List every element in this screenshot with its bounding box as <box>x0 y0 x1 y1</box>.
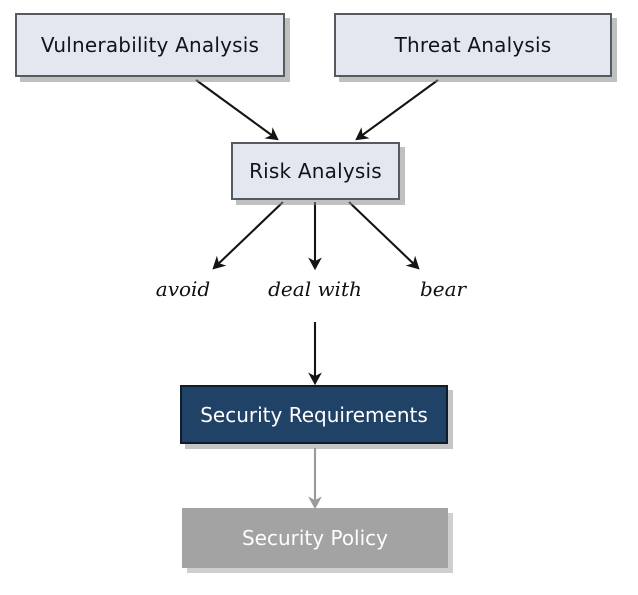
node-threat-analysis-label: Threat Analysis <box>395 34 552 56</box>
edge-risk-to-avoid <box>214 202 283 268</box>
annotation-deal-with: deal with <box>250 277 380 301</box>
annotation-bear: bear <box>382 277 504 301</box>
node-threat-analysis[interactable]: Threat Analysis <box>334 13 612 77</box>
edge-threat-to-risk <box>357 80 438 139</box>
node-vulnerability-analysis[interactable]: Vulnerability Analysis <box>15 13 285 77</box>
node-security-policy-label: Security Policy <box>242 527 388 549</box>
edge-risk-to-bear <box>349 202 418 268</box>
node-risk-analysis-label: Risk Analysis <box>249 160 382 182</box>
diagram-canvas: Vulnerability Analysis Threat Analysis R… <box>0 0 638 595</box>
node-security-requirements-label: Security Requirements <box>200 404 428 426</box>
node-vulnerability-analysis-label: Vulnerability Analysis <box>41 34 259 56</box>
edge-vulnerability-to-risk <box>196 80 277 139</box>
annotation-avoid: avoid <box>120 277 246 301</box>
node-security-policy[interactable]: Security Policy <box>182 508 448 568</box>
node-security-requirements[interactable]: Security Requirements <box>180 385 448 444</box>
node-risk-analysis[interactable]: Risk Analysis <box>231 142 400 200</box>
